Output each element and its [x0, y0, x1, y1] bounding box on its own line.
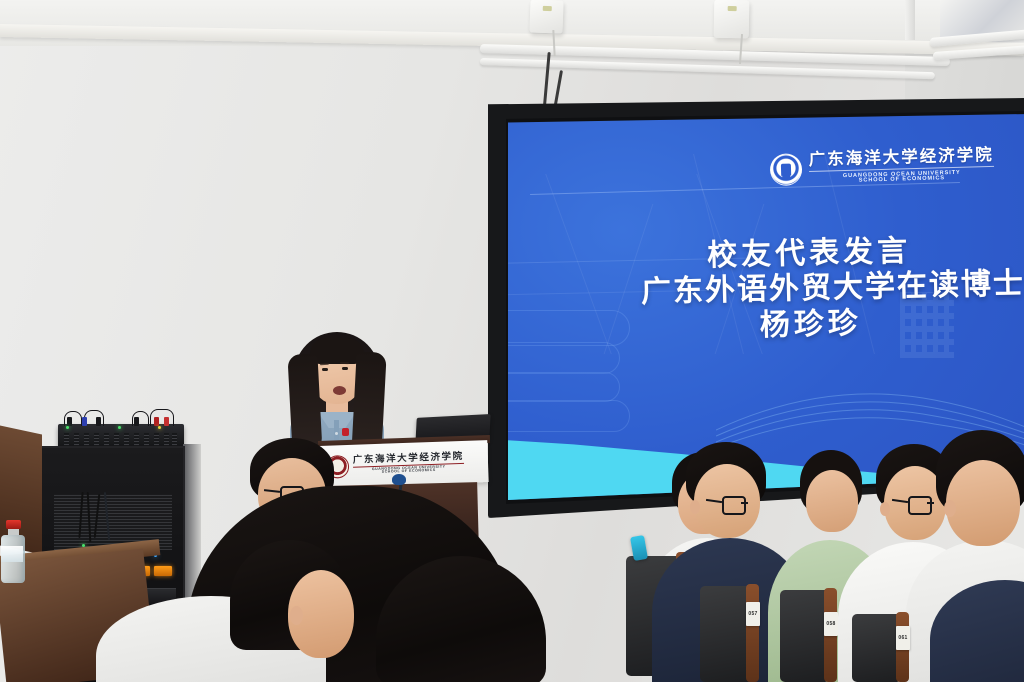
audience-ear — [690, 500, 700, 514]
bottle-body — [1, 535, 25, 583]
wall-speaker-icon — [714, 0, 750, 38]
vertical-pipe — [905, 0, 915, 40]
microphone-icon — [392, 474, 406, 485]
audience-chair: 061 — [852, 614, 922, 682]
slide-logo-cn: 广东海洋大学经济学院 — [809, 147, 994, 169]
seat-tag-label: 058 — [826, 621, 835, 627]
foreground-person — [230, 540, 370, 682]
speaker-eyebrow — [340, 362, 349, 364]
lecture-hall-photo: 广东海洋大学经济学院 GUANGDONG OCEAN UNIVERSITY SC… — [0, 0, 1024, 682]
foreground-ear — [290, 606, 303, 625]
audience-person — [940, 580, 1024, 682]
audience-shirt — [930, 580, 1024, 682]
lapel-microphone — [342, 428, 349, 436]
seat-tag: 058 — [824, 612, 838, 636]
seat-tag-label: 061 — [898, 635, 907, 641]
slide-logo: 广东海洋大学经济学院 GUANGDONG OCEAN UNIVERSITY SC… — [770, 147, 995, 187]
speaker-eye — [342, 367, 348, 370]
water-bottle — [0, 520, 26, 583]
bottle-cap — [6, 520, 21, 529]
foreground-person — [376, 556, 546, 682]
audience-head — [946, 460, 1020, 546]
seat-tag: 057 — [746, 602, 760, 626]
audience-chair: 057 — [700, 586, 770, 682]
audience-head — [806, 470, 858, 532]
speaker-mouth — [333, 386, 346, 395]
wall-speaker-icon — [529, 0, 563, 34]
seat-tag: 061 — [896, 626, 910, 650]
seat-tag-label: 057 — [748, 611, 757, 617]
slide-title-block: 校友代表发言 广东外语外贸大学在读博士 杨珍珍 — [559, 230, 1024, 347]
university-crest-icon — [770, 153, 803, 186]
rack-cable-bundle — [76, 492, 126, 544]
audience-ear — [944, 500, 956, 517]
audience-ear — [880, 502, 890, 516]
speaker-eye — [322, 368, 328, 371]
foreground-hair — [376, 556, 546, 682]
